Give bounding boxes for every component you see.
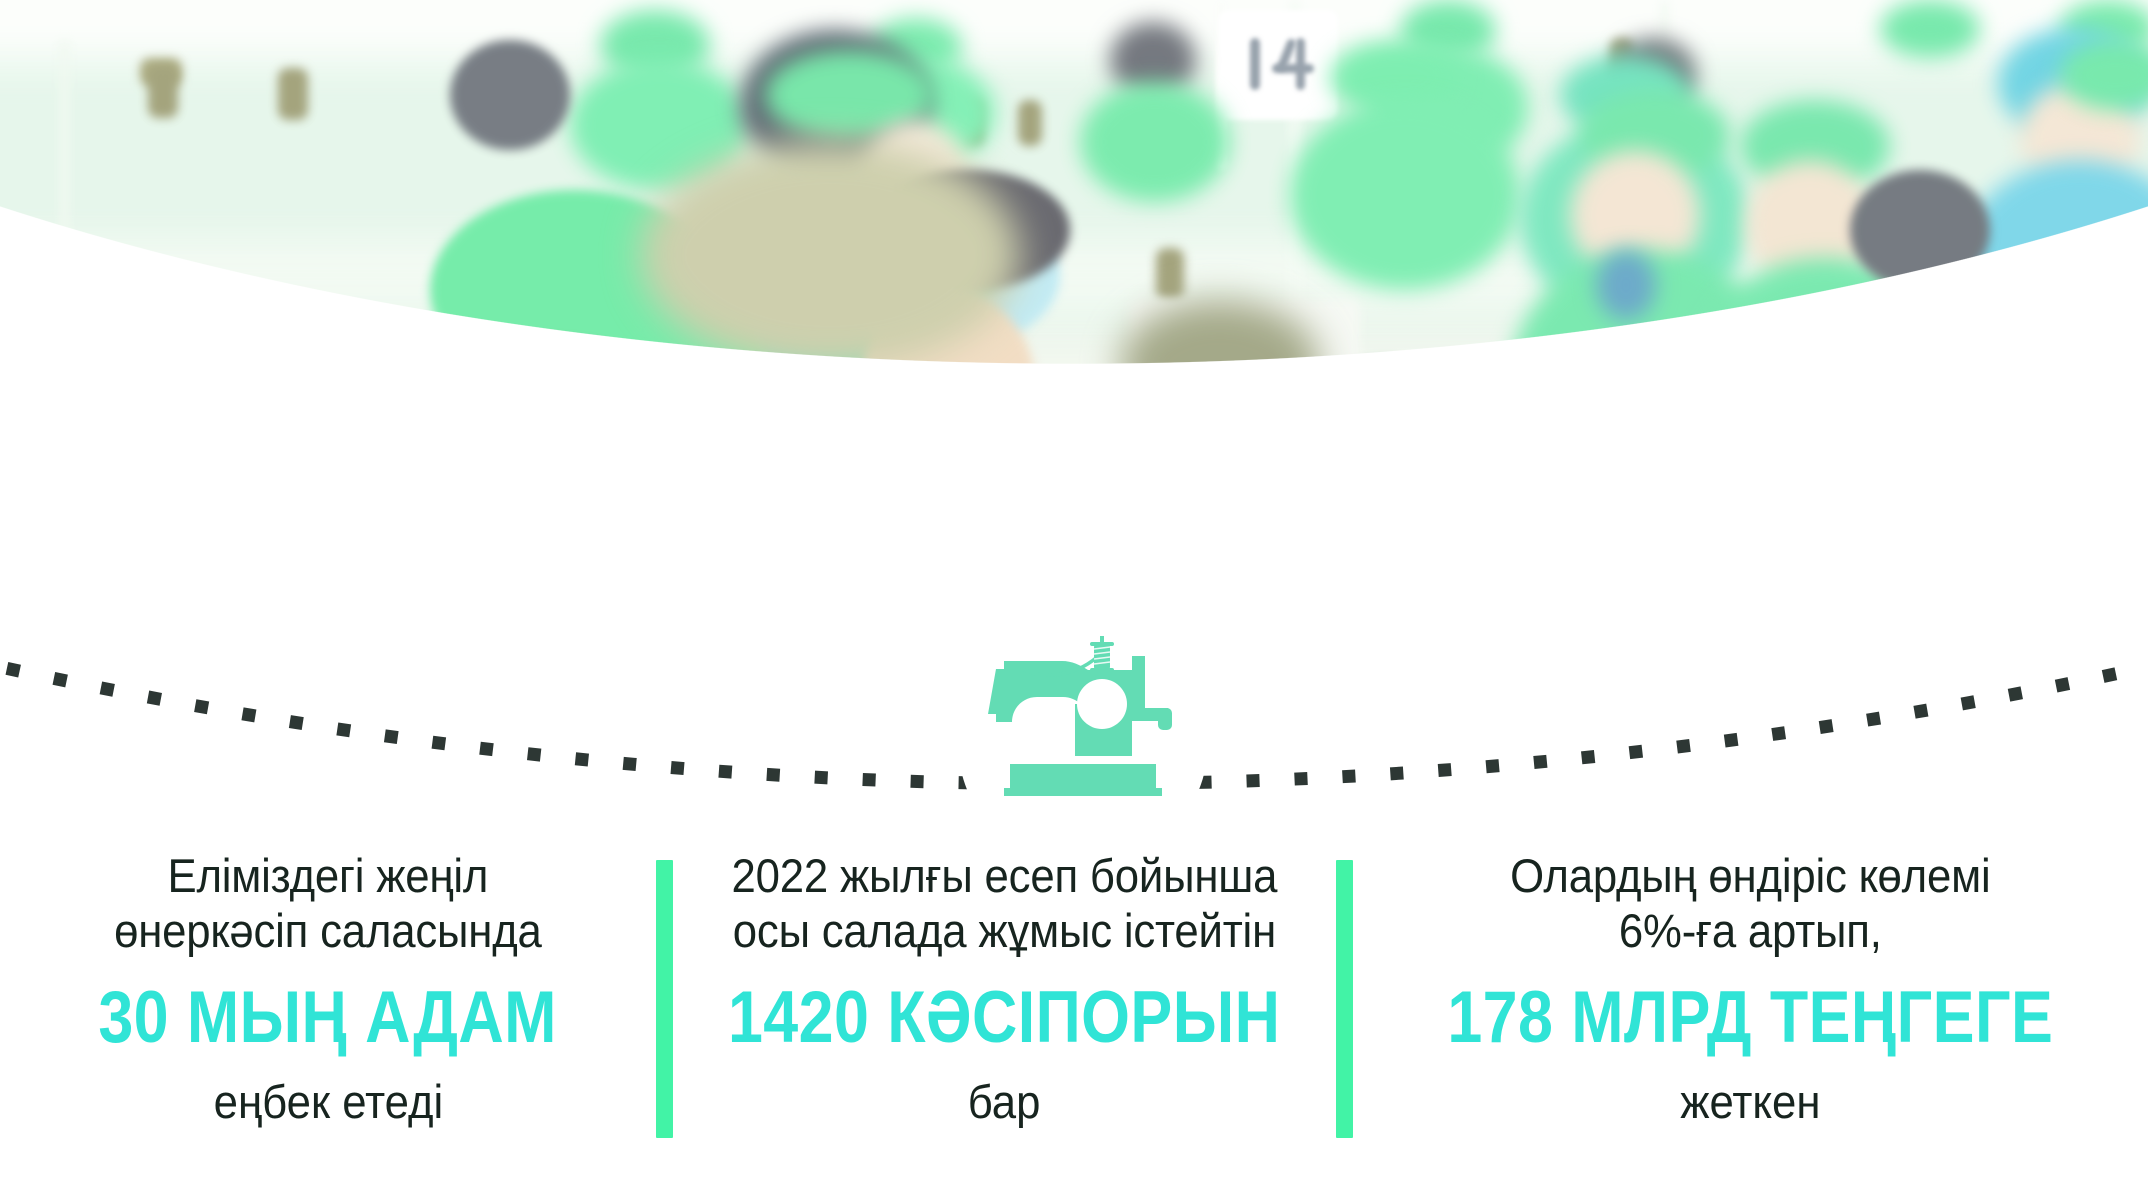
stat-lead-text: Олардың өндіріс көлемі 6%-ға артып, xyxy=(1510,848,1990,959)
stat-lead-text: 2022 жылғы есеп бойынша осы салада жұмыс… xyxy=(732,848,1278,959)
hand-wheel xyxy=(1077,679,1127,729)
stat-highlight-value: 178 МЛРД ТЕҢГЕГЕ xyxy=(1447,981,2053,1055)
photo-shape-highlight-wash xyxy=(0,0,2148,460)
stat-tail-text: бар xyxy=(968,1075,1041,1130)
stat-divider-2 xyxy=(1336,860,1353,1138)
stat-divider-1 xyxy=(656,860,673,1138)
stat-column-enterprises: 2022 жылғы есеп бойынша осы салада жұмыс… xyxy=(673,836,1336,1178)
stat-column-employment: Еліміздегі жеңіл өнеркәсіп саласында 30 … xyxy=(0,836,656,1178)
photo-shape-fabric-pile-4 xyxy=(560,540,900,790)
photo-shape-machine-1-buttons xyxy=(190,480,340,528)
photo-shape-motor-1 xyxy=(170,620,370,790)
photo-shape-fabric-roll xyxy=(1580,590,1910,790)
infographic-root: Еліміздегі жеңіл өнеркәсіп саласында 30 … xyxy=(0,0,2148,1178)
stat-tail-text: еңбек етеді xyxy=(213,1075,443,1130)
sewing-machine-icon xyxy=(982,636,1184,796)
stat-column-output: Олардың өндіріс көлемі 6%-ға артып, 178 … xyxy=(1353,836,2148,1178)
stats-row: Еліміздегі жеңіл өнеркәсіп саласында 30 … xyxy=(0,836,2148,1178)
stat-highlight-value: 30 МЫҢ АДАМ xyxy=(99,981,558,1055)
stat-tail-text: жеткен xyxy=(1680,1075,1820,1130)
stat-highlight-value: 1420 КӘСІПОРЫН xyxy=(728,981,1280,1055)
stat-lead-text: Еліміздегі жеңіл өнеркәсіп саласында xyxy=(114,848,542,959)
center-icon-badge xyxy=(958,618,1208,868)
